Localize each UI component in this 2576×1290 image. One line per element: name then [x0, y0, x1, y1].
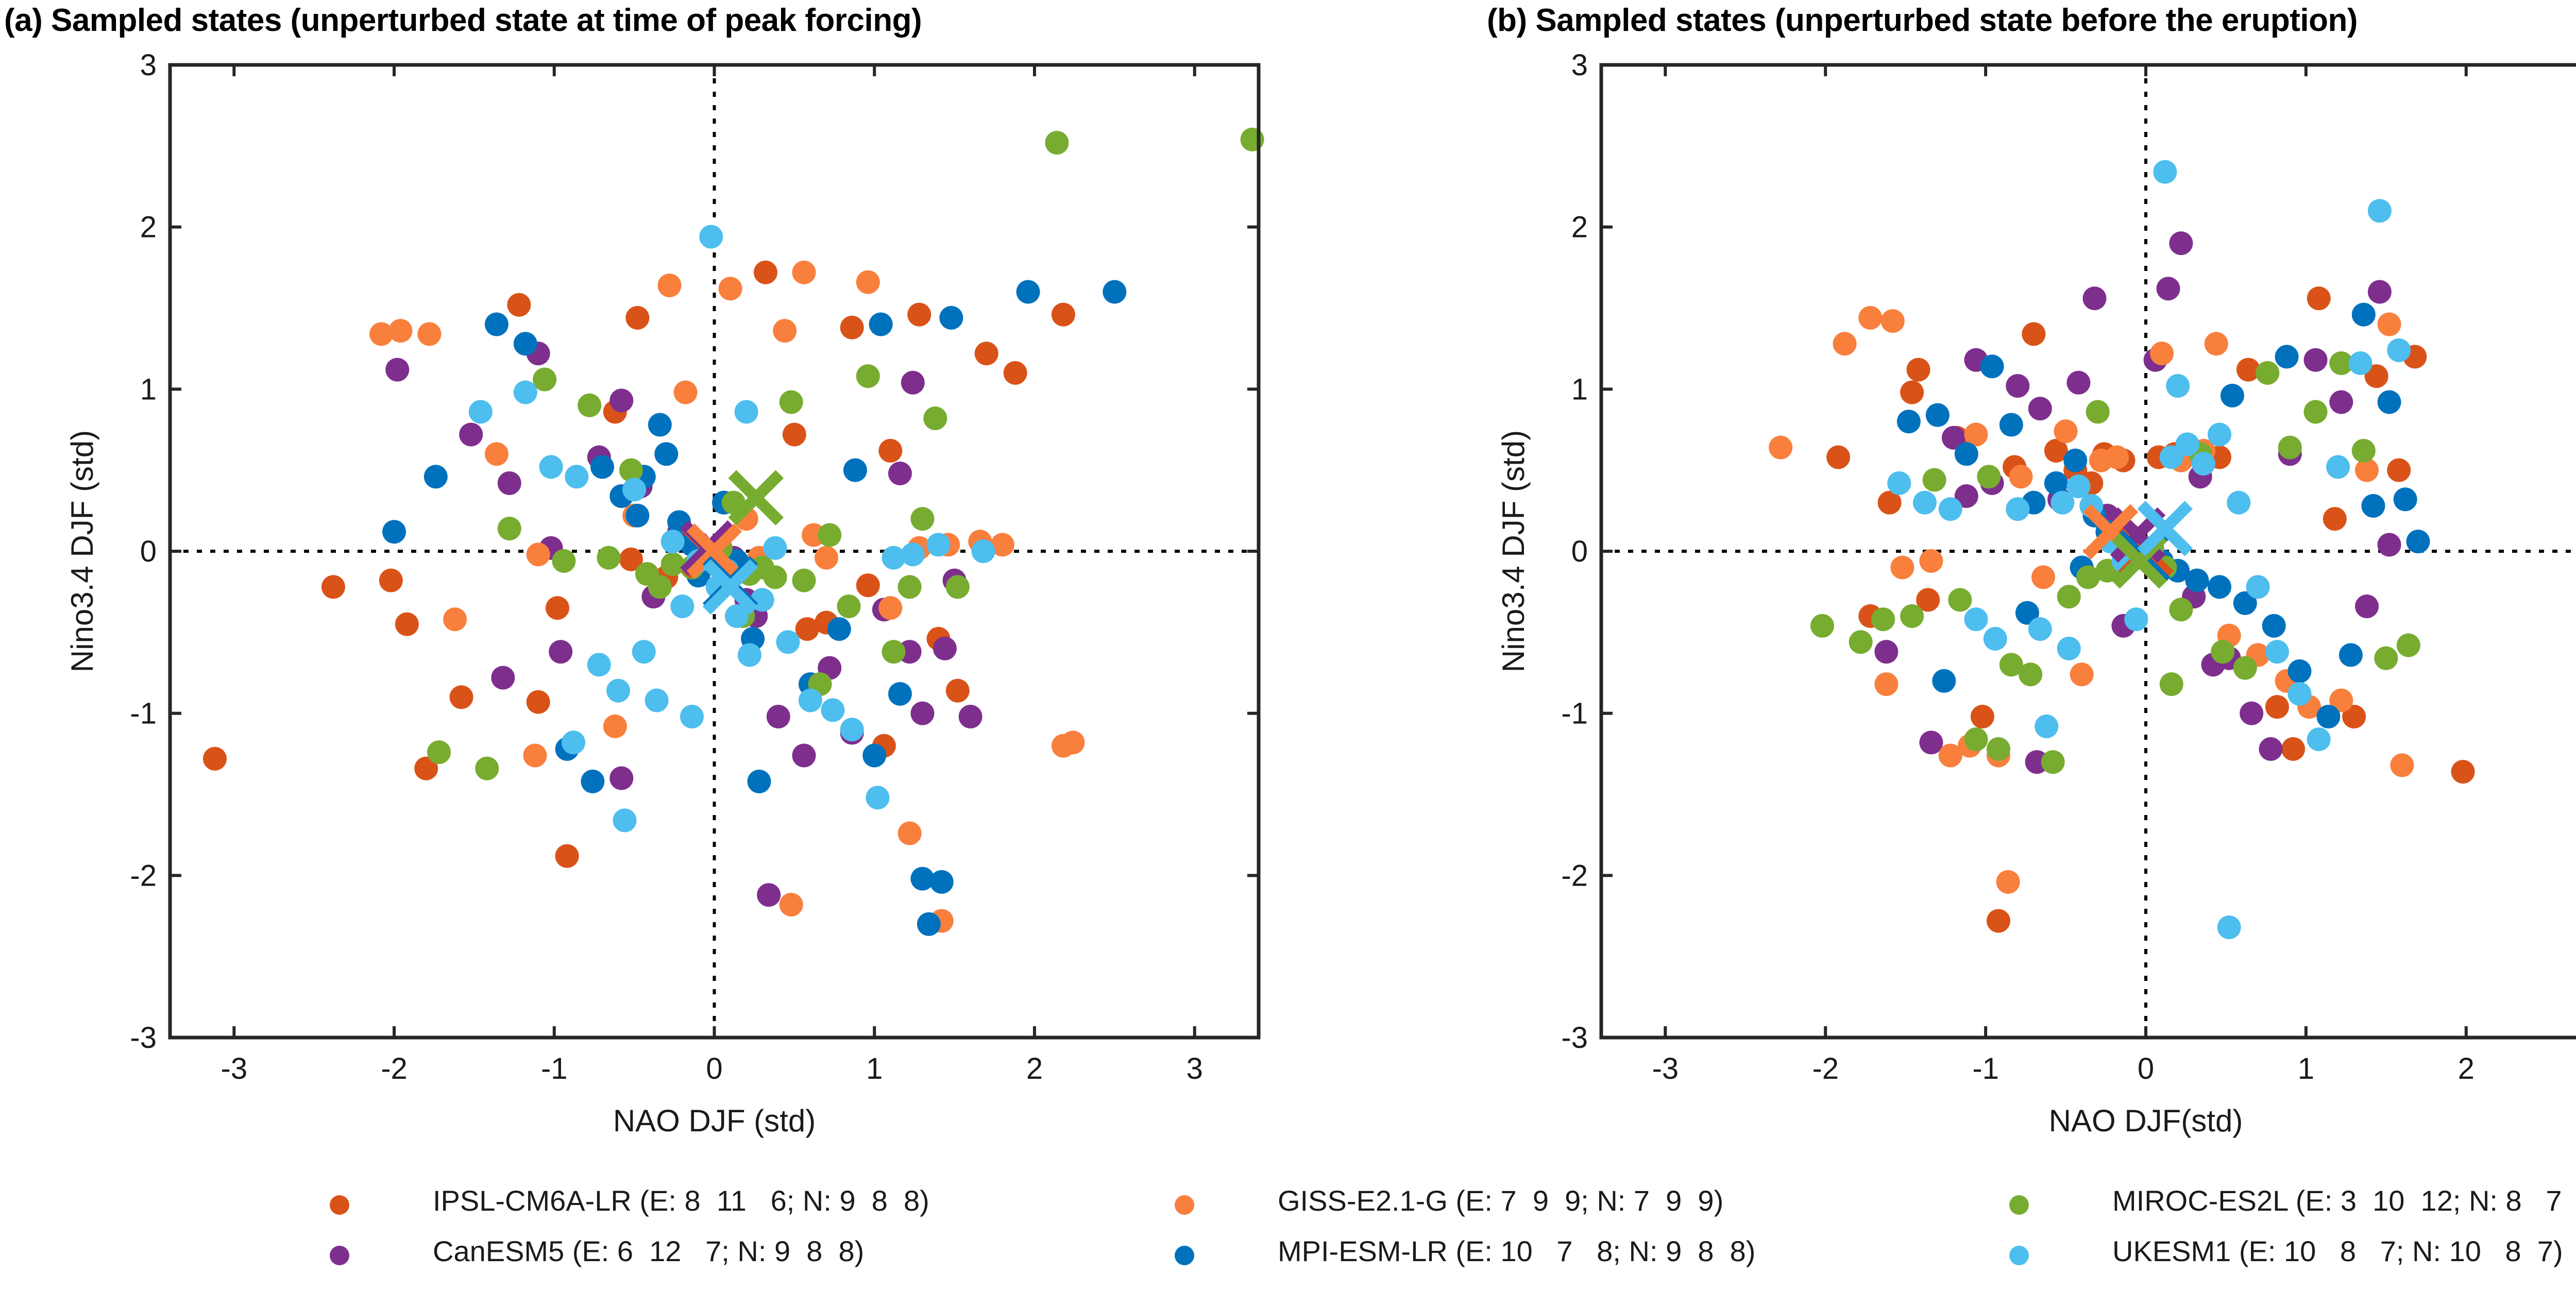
data-point [779, 391, 803, 414]
data-point [507, 293, 531, 317]
y-tick-label: 0 [1571, 535, 1588, 568]
data-point [1913, 491, 1937, 515]
y-tick-label: -2 [130, 859, 157, 892]
data-point [2157, 277, 2180, 300]
data-point [527, 542, 550, 566]
data-point [2169, 598, 2193, 621]
data-point [862, 743, 886, 767]
data-point [539, 455, 563, 479]
data-point [776, 630, 800, 654]
data-point [1826, 445, 1850, 469]
data-point [1971, 705, 1994, 728]
data-point [648, 413, 672, 437]
data-point [2262, 614, 2286, 638]
data-point [2378, 312, 2401, 336]
data-point [2307, 286, 2331, 310]
data-point [773, 319, 796, 343]
legend-label: IPSL-CM6A-LR (E: 8 11 6; N: 9 8 8) [433, 1184, 929, 1217]
data-point [2221, 384, 2244, 408]
x-tick-label: -2 [381, 1052, 408, 1085]
data-point [2323, 507, 2347, 531]
data-point [1987, 737, 2010, 761]
data-point [533, 367, 556, 391]
legend-marker-icon [2009, 1246, 2029, 1265]
data-point [840, 316, 864, 340]
y-tick-label: -2 [1561, 859, 1588, 892]
data-point [1874, 640, 1898, 664]
data-point [748, 770, 771, 793]
data-point [1987, 909, 2010, 932]
data-point [792, 569, 816, 592]
data-point [2150, 342, 2174, 365]
data-point [1810, 614, 1834, 638]
data-point [1045, 131, 1069, 155]
data-point [321, 575, 345, 599]
data-point [2227, 491, 2250, 515]
data-point [388, 319, 412, 343]
data-point [609, 388, 633, 412]
data-point [2352, 439, 2376, 463]
data-point [1964, 727, 1988, 751]
x-tick-label: 0 [2138, 1052, 2154, 1085]
data-point [2153, 160, 2177, 184]
data-point [2368, 199, 2392, 223]
figure-root: (a) Sampled states (unperturbed state at… [0, 0, 2576, 1290]
x-tick-label: -3 [221, 1052, 248, 1085]
data-point [2057, 585, 2081, 608]
data-point [1833, 332, 1857, 355]
data-point [395, 613, 419, 636]
data-point [443, 607, 467, 631]
data-point [827, 617, 851, 641]
data-point [581, 770, 604, 793]
data-point [2265, 640, 2289, 664]
data-point [878, 439, 902, 463]
data-point [2329, 391, 2353, 414]
data-point [1932, 669, 1956, 693]
data-point [792, 261, 816, 284]
data-point [2124, 607, 2148, 631]
y-axis-label: Nino3.4 DJF (std) [1496, 430, 1531, 672]
data-point [587, 653, 611, 676]
data-point [837, 595, 861, 618]
data-point [2349, 351, 2372, 375]
data-point [2387, 338, 2411, 362]
data-point [590, 455, 614, 479]
data-point [1900, 604, 1924, 628]
data-point [2031, 565, 2055, 589]
data-point [2066, 474, 2090, 498]
x-axis-label: NAO DJF (std) [613, 1104, 816, 1138]
data-point [972, 539, 995, 563]
data-point [2275, 345, 2299, 368]
data-point [514, 332, 537, 355]
data-point [1887, 471, 1911, 495]
data-point [910, 507, 934, 531]
data-point [1955, 442, 1978, 466]
data-point [2006, 497, 2029, 521]
data-point [648, 575, 672, 599]
data-point [527, 690, 550, 714]
data-point [552, 549, 575, 573]
data-point [2287, 659, 2311, 683]
data-point [2287, 682, 2311, 706]
data-point [613, 808, 636, 832]
data-point [2063, 449, 2087, 472]
data-point [910, 702, 934, 725]
y-tick-label: 1 [140, 372, 157, 406]
data-point [754, 261, 777, 284]
data-point [491, 666, 515, 689]
data-point [2019, 663, 2042, 686]
data-point [738, 643, 761, 667]
data-point [475, 757, 499, 780]
data-point [2378, 533, 2401, 556]
data-point [1858, 306, 1882, 330]
data-point [869, 312, 893, 336]
data-point [1052, 303, 1075, 327]
data-point [597, 546, 620, 570]
data-point [2265, 695, 2289, 719]
data-point [2217, 915, 2241, 939]
legend-marker-icon [1175, 1246, 1194, 1265]
data-point [792, 743, 816, 767]
data-point [1999, 413, 2023, 437]
legend-marker-icon [2009, 1195, 2029, 1215]
data-point [203, 747, 227, 771]
data-point [562, 731, 585, 754]
data-point [764, 536, 787, 560]
data-point [1939, 497, 1962, 521]
data-point [2246, 575, 2270, 599]
data-point [2160, 672, 2183, 696]
data-point [764, 565, 787, 589]
data-point [2009, 465, 2033, 488]
data-point [779, 893, 803, 916]
x-tick-label: -1 [1972, 1052, 1999, 1085]
data-point [2361, 494, 2385, 518]
data-point [1996, 870, 2020, 894]
data-point [888, 462, 912, 485]
data-point [657, 274, 681, 297]
data-point [901, 371, 925, 395]
x-tick-label: 1 [866, 1052, 883, 1085]
data-point [1241, 128, 1264, 151]
data-point [654, 442, 678, 466]
data-point [549, 640, 572, 664]
data-point [1881, 309, 1905, 333]
data-point [2160, 445, 2183, 469]
data-point [606, 679, 630, 703]
data-point [2070, 663, 2094, 686]
data-point [2105, 445, 2129, 469]
data-point [843, 459, 867, 482]
data-point [2326, 455, 2350, 479]
data-point [2397, 634, 2420, 657]
data-point [735, 400, 758, 423]
data-point [680, 705, 704, 728]
y-tick-label: 2 [1571, 211, 1588, 244]
data-point [975, 342, 998, 365]
legend-label: GISS-E2.1-G (E: 7 9 9; N: 7 9 9) [1278, 1184, 1723, 1217]
data-point [2028, 397, 2052, 420]
data-point [2394, 487, 2417, 511]
x-tick-label: 1 [2298, 1052, 2314, 1085]
data-point [625, 306, 649, 330]
data-point [856, 364, 880, 388]
data-point [2374, 647, 2398, 670]
data-point [799, 688, 822, 712]
data-point [424, 465, 448, 488]
data-point [946, 575, 970, 599]
data-point [632, 640, 656, 664]
data-point [2240, 702, 2263, 725]
data-point [939, 306, 963, 330]
y-tick-label: 2 [140, 211, 157, 244]
data-point [2368, 280, 2392, 304]
data-point [622, 478, 646, 501]
data-point [625, 504, 649, 528]
data-point [959, 705, 982, 728]
data-point [1061, 731, 1085, 754]
data-point [2166, 374, 2190, 398]
data-point [898, 575, 922, 599]
data-point [2066, 371, 2090, 395]
data-point [645, 688, 669, 712]
data-point [1004, 361, 1027, 385]
data-point [2451, 760, 2475, 784]
data-point [1871, 607, 1895, 631]
data-point [1897, 410, 1921, 433]
data-point [783, 422, 806, 446]
data-point [2211, 640, 2234, 664]
data-point [379, 569, 403, 592]
legend-label: UKESM1 (E: 10 8 7; N: 10 8 7) [2112, 1234, 2563, 1268]
data-point [385, 358, 409, 382]
data-point [2256, 361, 2279, 385]
data-point [2057, 637, 2081, 660]
y-tick-label: 3 [140, 48, 157, 82]
data-point [1900, 381, 1924, 404]
y-tick-label: -3 [1561, 1021, 1588, 1055]
data-point [2355, 595, 2379, 618]
data-point [670, 595, 694, 618]
data-point [382, 520, 406, 544]
data-point [2281, 737, 2305, 761]
data-point [2278, 436, 2302, 460]
data-point [603, 715, 627, 738]
plot-canvas: -3-2-10123-3-2-10123NAO DJF (std)Nino3.4… [0, 0, 2576, 1290]
x-tick-label: 2 [2458, 1052, 2475, 1085]
data-point [523, 743, 547, 767]
data-point [757, 883, 781, 907]
data-point [1977, 465, 2001, 488]
data-point [555, 844, 579, 868]
data-point [815, 546, 838, 570]
y-tick-label: -1 [130, 697, 157, 731]
data-point [856, 573, 880, 597]
data-point [1849, 630, 1873, 654]
data-point [2387, 459, 2411, 482]
data-point [1769, 436, 1792, 460]
data-point [2352, 303, 2376, 327]
legend-marker-icon [1175, 1195, 1194, 1215]
data-point [2006, 374, 2029, 398]
data-point [719, 277, 742, 300]
data-point [2307, 727, 2331, 751]
data-point [2208, 575, 2231, 599]
data-point [1926, 403, 1950, 427]
data-point [2054, 419, 2078, 443]
data-point [1919, 549, 1943, 573]
data-point [1016, 280, 1040, 304]
data-point [485, 312, 509, 336]
data-point [2233, 656, 2257, 680]
data-point [674, 381, 698, 404]
data-point [459, 422, 483, 446]
data-point [2208, 422, 2231, 446]
data-point [565, 465, 588, 488]
data-point [933, 637, 957, 660]
data-point [1919, 731, 1943, 754]
data-point [767, 705, 790, 728]
y-tick-label: 3 [1571, 48, 1588, 82]
panel-a-axes: -3-2-10123-3-2-10123NAO DJF (std)Nino3.4… [65, 48, 1264, 1138]
data-point [1980, 354, 2004, 378]
x-tick-label: 0 [706, 1052, 722, 1085]
data-point [1907, 358, 1930, 382]
y-tick-label: 1 [1571, 372, 1588, 406]
data-point [901, 542, 925, 566]
data-point [2304, 348, 2328, 372]
data-point [2192, 452, 2215, 476]
x-tick-label: 3 [1187, 1052, 1203, 1085]
x-tick-label: -1 [541, 1052, 568, 1085]
data-point [2041, 750, 2065, 774]
data-point [2086, 400, 2110, 423]
data-point [898, 822, 922, 845]
y-tick-label: -1 [1561, 697, 1588, 731]
data-point [2028, 617, 2052, 641]
data-point [578, 394, 601, 417]
data-point [2022, 322, 2045, 346]
legend-marker-icon [330, 1246, 349, 1265]
data-point [469, 400, 493, 423]
legend: IPSL-CM6A-LR (E: 8 11 6; N: 9 8 8)CanESM… [0, 1180, 2576, 1290]
data-point [1948, 588, 1972, 612]
data-point [427, 740, 451, 764]
data-point [907, 303, 931, 327]
data-point [878, 596, 902, 620]
data-point [450, 685, 473, 709]
data-point [2304, 400, 2328, 423]
data-point [1923, 468, 1946, 492]
legend-label: MPI-ESM-LR (E: 10 7 8; N: 9 8 8) [1278, 1234, 1755, 1268]
data-point [866, 786, 889, 809]
data-point [2316, 705, 2340, 728]
x-tick-label: 2 [1026, 1052, 1043, 1085]
data-point [498, 517, 521, 540]
data-point [1890, 555, 1914, 579]
data-point [609, 767, 633, 790]
y-tick-label: 0 [140, 535, 157, 568]
data-point [821, 698, 844, 722]
data-point [888, 682, 912, 706]
panel-b-axes: -3-2-10123-3-2-10123NAO DJF(std)Nino3.4 … [1496, 48, 2576, 1138]
data-point [1874, 672, 1898, 696]
data-point [2035, 715, 2058, 738]
data-point [2083, 286, 2107, 310]
legend-label: CanESM5 (E: 6 12 7; N: 9 8 8) [433, 1234, 864, 1268]
data-point [946, 679, 970, 703]
data-point [917, 912, 941, 936]
data-point [514, 381, 537, 404]
data-point [840, 718, 864, 741]
data-point [485, 442, 509, 466]
data-point [2406, 530, 2430, 553]
legend-marker-icon [330, 1195, 349, 1215]
data-point [546, 596, 569, 620]
data-point [856, 270, 880, 294]
data-point [2378, 391, 2401, 414]
data-point [930, 870, 954, 894]
data-point [2390, 753, 2414, 777]
data-point [417, 322, 441, 346]
data-point [1103, 280, 1126, 304]
x-tick-label: -3 [1652, 1052, 1679, 1085]
data-point [923, 406, 947, 430]
legend-label: MIROC-ES2L (E: 3 10 12; N: 8 7 10) [2112, 1184, 2576, 1217]
data-point [882, 640, 906, 664]
data-point [699, 225, 723, 249]
data-point [2169, 231, 2193, 255]
x-tick-label: -2 [1812, 1052, 1839, 1085]
y-tick-label: -3 [130, 1021, 157, 1055]
data-point [1984, 627, 2007, 651]
data-point [818, 523, 841, 547]
data-point [2205, 332, 2228, 355]
data-point [927, 533, 951, 556]
y-axis-label: Nino3.4 DJF (std) [65, 430, 99, 672]
data-point [2185, 569, 2209, 592]
data-point [1964, 607, 1988, 631]
data-point [498, 471, 521, 495]
data-point [661, 530, 685, 553]
data-point [2339, 643, 2363, 667]
x-axis-label: NAO DJF(std) [2049, 1104, 2243, 1138]
data-point [2259, 737, 2282, 761]
